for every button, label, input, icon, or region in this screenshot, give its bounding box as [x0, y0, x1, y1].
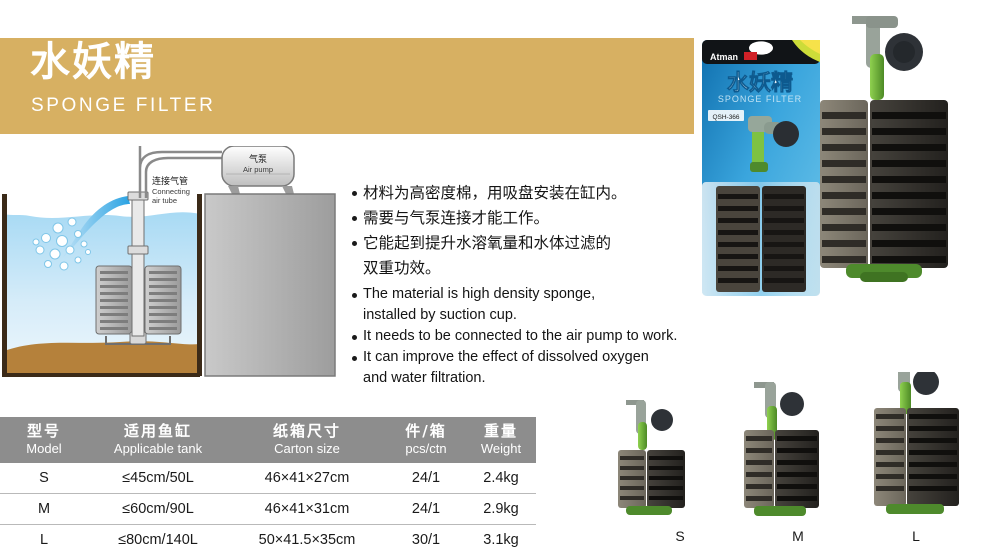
- product-sheet: 水妖精 SPONGE FILTER: [0, 0, 1000, 553]
- column-header-en: Weight: [466, 441, 536, 457]
- bullet-icon: [352, 293, 357, 298]
- bullet-icon: [352, 216, 357, 221]
- feature-item: It needs to be connected to the air pump…: [352, 326, 682, 346]
- air-pump-label-en: Air pump: [243, 165, 273, 174]
- column-header-tank: 适用鱼缸 Applicable tank: [88, 417, 228, 463]
- feature-text: It can improve the effect of dissolved o…: [363, 347, 649, 367]
- column-header-model: 型号 Model: [0, 417, 88, 463]
- size-variant-photos: [596, 372, 1000, 552]
- cell-pcs: 24/1: [386, 494, 466, 525]
- air-tube-label-cn: 连接气管: [152, 175, 188, 187]
- air-pump-label-cn: 气泵: [249, 153, 267, 165]
- cell-carton: 46×41×31cm: [228, 494, 386, 525]
- feature-text: The material is high density sponge,: [363, 284, 595, 304]
- cell-weight: 2.9kg: [466, 494, 536, 525]
- feature-item: It can improve the effect of dissolved o…: [352, 347, 682, 367]
- column-header-cn: 重量: [466, 422, 536, 441]
- cell-weight: 2.4kg: [466, 463, 536, 494]
- cell-model: M: [0, 494, 88, 525]
- bullet-icon: [352, 191, 357, 196]
- cabinet: [205, 194, 335, 376]
- cell-pcs: 30/1: [386, 525, 466, 556]
- bullet-icon: [352, 356, 357, 361]
- column-header-en: pcs/ctn: [386, 441, 466, 457]
- cell-model: L: [0, 525, 88, 556]
- package-brand: Atman: [710, 52, 738, 62]
- feature-item: 它能起到提升水溶氧量和水体过滤的: [352, 232, 682, 255]
- column-header-en: Model: [0, 441, 88, 457]
- cell-carton: 46×41×27cm: [228, 463, 386, 494]
- hero-product-photo: [800, 8, 985, 378]
- page-title-en: SPONGE FILTER: [31, 95, 215, 117]
- hero-green-base: [846, 264, 922, 282]
- cell-model: S: [0, 463, 88, 494]
- spec-table: 型号 Model 适用鱼缸 Applicable tank 纸箱尺寸 Carto…: [0, 417, 536, 555]
- feature-item: The material is high density sponge,: [352, 284, 682, 304]
- cell-tank: ≤60cm/90L: [88, 494, 228, 525]
- feature-text: 双重功效。: [363, 257, 441, 280]
- variant-m: [744, 382, 819, 516]
- column-header-cn: 纸箱尺寸: [228, 422, 386, 441]
- variant-label-l: L: [896, 528, 936, 544]
- air-tube-label-en-1: Connecting: [152, 187, 190, 196]
- feature-item-continuation: installed by suction cup.: [352, 305, 682, 325]
- column-header-en: Applicable tank: [88, 441, 228, 457]
- variant-label-s: S: [660, 528, 700, 544]
- variant-s: [618, 400, 685, 515]
- tank-wall-left: [2, 194, 7, 376]
- column-header-cn: 件/箱: [386, 422, 466, 441]
- feature-item: 材料为高密度棉，用吸盘安装在缸内。: [352, 182, 682, 205]
- table-row: M ≤60cm/90L 46×41×31cm 24/1 2.9kg: [0, 494, 536, 525]
- table-row: S ≤45cm/50L 46×41×27cm 24/1 2.4kg: [0, 463, 536, 494]
- cell-tank: ≤45cm/50L: [88, 463, 228, 494]
- bullet-spacer: [352, 314, 357, 319]
- page-title-cn: 水妖精: [30, 42, 156, 82]
- variant-label-m: M: [778, 528, 818, 544]
- table-header-row: 型号 Model 适用鱼缸 Applicable tank 纸箱尺寸 Carto…: [0, 417, 536, 463]
- tank-wall-right: [197, 194, 202, 376]
- aquarium-diagram: 气泵 Air pump 连接气管 Connecting air tube: [0, 146, 340, 386]
- bullet-icon: [352, 241, 357, 246]
- bullet-spacer: [352, 266, 357, 271]
- hero-green-stem: [870, 54, 884, 100]
- feature-text: installed by suction cup.: [363, 305, 517, 325]
- package-title-cn: 水妖精: [727, 70, 793, 96]
- feature-item: 需要与气泵连接才能工作。: [352, 207, 682, 230]
- feature-text: It needs to be connected to the air pump…: [363, 326, 677, 346]
- column-header-en: Carton size: [228, 441, 386, 457]
- air-tube-label-en-2: air tube: [152, 196, 177, 205]
- cell-tank: ≤80cm/140L: [88, 525, 228, 556]
- bullet-spacer: [352, 377, 357, 382]
- feature-text: 需要与气泵连接才能工作。: [363, 207, 549, 230]
- feature-text: and water filtration.: [363, 368, 486, 388]
- bullet-icon: [352, 335, 357, 340]
- cell-pcs: 24/1: [386, 463, 466, 494]
- feature-text: 它能起到提升水溶氧量和水体过滤的: [363, 232, 611, 255]
- variant-l: [874, 372, 959, 514]
- cell-weight: 3.1kg: [466, 525, 536, 556]
- column-header-weight: 重量 Weight: [466, 417, 536, 463]
- feature-text: 材料为高密度棉，用吸盘安装在缸内。: [363, 182, 627, 205]
- column-header-cn: 适用鱼缸: [88, 422, 228, 441]
- cell-carton: 50×41.5×35cm: [228, 525, 386, 556]
- substrate: [4, 341, 200, 376]
- column-header-cn: 型号: [0, 422, 88, 441]
- package-code: QSH-366: [712, 114, 739, 121]
- hero-sponge-left: [820, 100, 868, 268]
- feature-list: 材料为高密度棉，用吸盘安装在缸内。 需要与气泵连接才能工作。 它能起到提升水溶氧…: [352, 182, 682, 389]
- package-title-en: SPONGE FILTER: [718, 94, 802, 104]
- column-header-pcs: 件/箱 pcs/ctn: [386, 417, 466, 463]
- feature-item-continuation: 双重功效。: [352, 257, 682, 280]
- hero-sponge-right: [870, 100, 948, 268]
- table-row: L ≤80cm/140L 50×41.5×35cm 30/1 3.1kg: [0, 525, 536, 556]
- column-header-carton: 纸箱尺寸 Carton size: [228, 417, 386, 463]
- feature-group-cn: 材料为高密度棉，用吸盘安装在缸内。 需要与气泵连接才能工作。 它能起到提升水溶氧…: [352, 182, 682, 280]
- tank-wall-bottom: [2, 373, 200, 377]
